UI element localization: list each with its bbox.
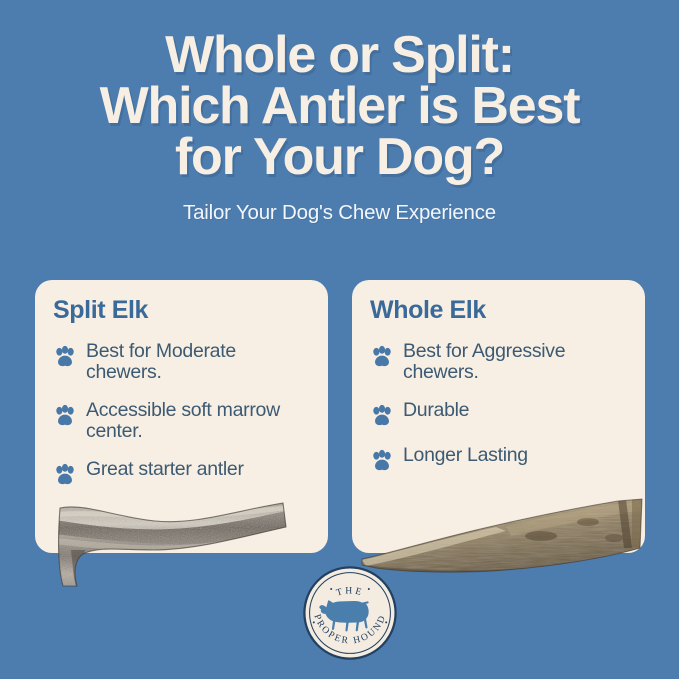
list-item-label: Longer Lasting <box>403 445 528 466</box>
paw-icon <box>53 463 77 487</box>
list-item-label: Durable <box>403 400 469 421</box>
paw-icon <box>370 345 394 369</box>
card-whole-elk: Whole Elk Best for Aggressive chewers. <box>352 280 645 553</box>
list-item-label: Best for Moderate chewers. <box>86 341 304 383</box>
card-title-whole-elk: Whole Elk <box>370 296 629 325</box>
list-item: Best for Moderate chewers. <box>53 341 312 383</box>
logo-dot-lower-right <box>385 621 387 623</box>
list-item: Longer Lasting <box>370 445 629 473</box>
page-title: Whole or Split: Which Antler is Best for… <box>0 30 679 183</box>
title-line-3: for Your Dog? <box>18 132 661 183</box>
feature-list-split-elk: Best for Moderate chewers. Accessible so… <box>53 341 312 487</box>
logo-dot-left <box>330 588 332 590</box>
list-item: Durable <box>370 400 629 428</box>
list-item-label: Great starter antler <box>86 459 244 480</box>
page-subtitle: Tailor Your Dog's Chew Experience <box>0 201 679 225</box>
list-item: Great starter antler <box>53 459 312 487</box>
card-title-split-elk: Split Elk <box>53 296 312 325</box>
brand-logo: THE PROPER HOUND <box>303 566 397 660</box>
logo-dot-lower-left <box>313 621 315 623</box>
list-item-label: Best for Aggressive chewers. <box>403 341 621 383</box>
title-line-1: Whole or Split: <box>18 30 661 81</box>
header-block: Whole or Split: Which Antler is Best for… <box>0 30 679 225</box>
infographic-canvas: Whole or Split: Which Antler is Best for… <box>0 0 679 679</box>
paw-icon <box>370 449 394 473</box>
title-line-2: Which Antler is Best <box>18 81 661 132</box>
card-split-elk: Split Elk Best for Moderate chewers. <box>35 280 328 553</box>
list-item: Accessible soft marrow center. <box>53 400 312 442</box>
list-item: Best for Aggressive chewers. <box>370 341 629 383</box>
paw-icon <box>53 345 77 369</box>
paw-icon <box>370 404 394 428</box>
feature-list-whole-elk: Best for Aggressive chewers. Durable <box>370 341 629 473</box>
list-item-label: Accessible soft marrow center. <box>86 400 304 442</box>
paw-icon <box>53 404 77 428</box>
logo-dot-right <box>368 588 370 590</box>
comparison-cards: Split Elk Best for Moderate chewers. <box>35 280 645 553</box>
